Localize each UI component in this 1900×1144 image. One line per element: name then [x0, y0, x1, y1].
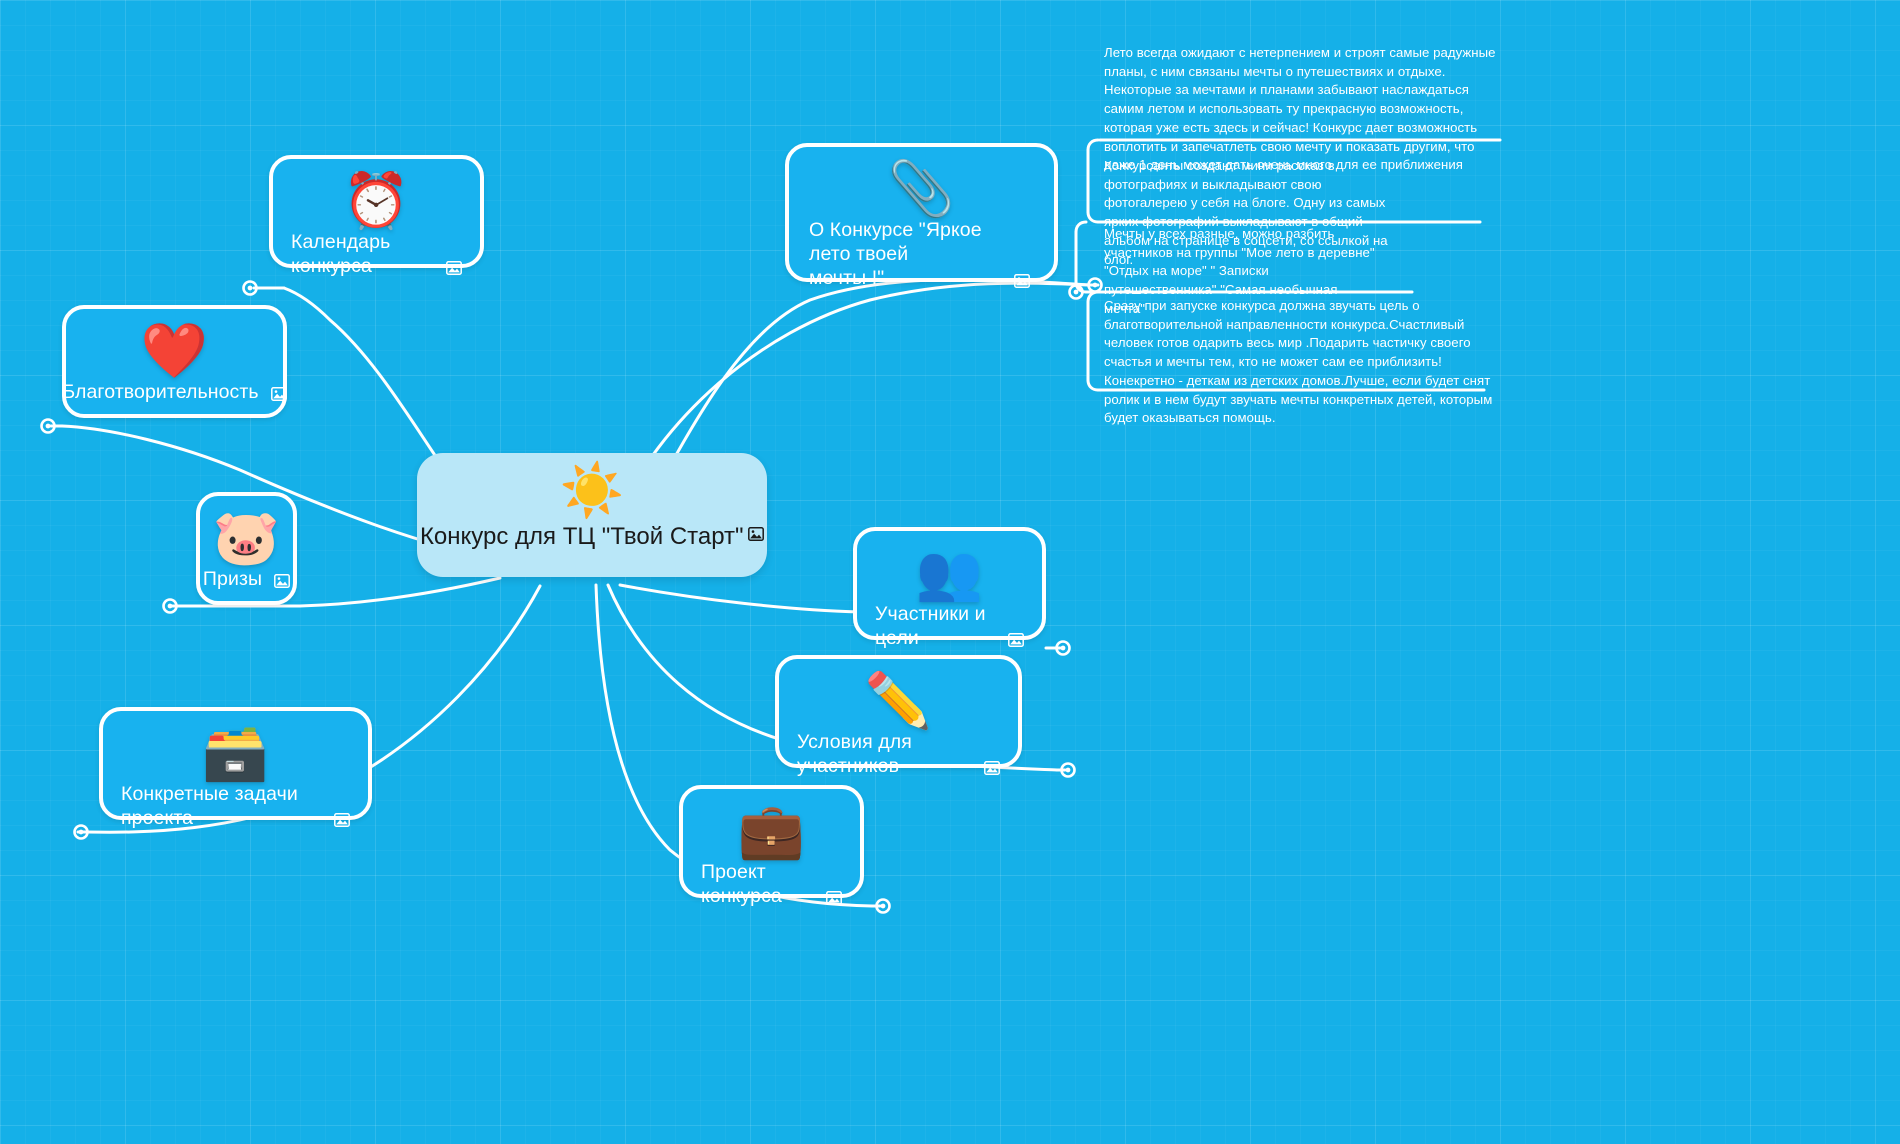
paperclip-note-emoji: 📎: [888, 161, 955, 218]
note-bracket-7: [1088, 380, 1098, 390]
node-label: Конкретные задачи проекта: [121, 782, 322, 831]
node-konkretnye-zadachi-proekta[interactable]: 🗃️ Конкретные задачи проекта: [99, 707, 372, 820]
node-label: Проект конкурса: [701, 860, 814, 909]
briefcase-emoji: 💼: [738, 803, 805, 860]
mindmap-canvas[interactable]: ☀️ Конкурс для ТЦ "Твой Старт" ⏰ Календа…: [0, 0, 1900, 1144]
node-caption: Конкретные задачи проекта: [121, 782, 350, 831]
node-usloviya-dlya-uchastnikov[interactable]: ✏️ Условия для участников: [775, 655, 1022, 768]
node-uchastniki-i-tseli[interactable]: 👥 Участники и цели: [853, 527, 1046, 640]
central-caption: Конкурс для ТЦ "Твой Старт": [420, 523, 764, 551]
image-attachment-badge[interactable]: [446, 261, 462, 275]
alarm-clock-emoji: ⏰: [343, 173, 410, 230]
image-attachment-badge[interactable]: [334, 813, 350, 827]
node-caption: Призы: [218, 567, 275, 591]
node-proekt-konkursa[interactable]: 💼 Проект конкурса: [679, 785, 864, 898]
node-caption: Условия для участников: [797, 730, 1000, 779]
image-attachment-badge[interactable]: [271, 387, 287, 401]
central-node-label: Конкурс для ТЦ "Твой Старт": [420, 523, 744, 550]
node-prizy[interactable]: 🐷 Призы: [196, 492, 297, 605]
node-caption: Участники и цели: [875, 602, 1024, 651]
note-about-contest: Лето всегда ожидают с нетерпением и стро…: [1104, 44, 1504, 175]
image-attachment-badge[interactable]: [984, 761, 1000, 775]
card-file-box-emoji: 🗃️: [202, 725, 269, 782]
node-label: Благотворительность: [62, 380, 258, 404]
node-label: О Конкурсе "Яркое лето твоей мечты !": [809, 218, 1002, 291]
central-node[interactable]: ☀️ Конкурс для ТЦ "Твой Старт": [417, 453, 767, 577]
node-caption: О Конкурсе "Яркое лето твоей мечты !": [807, 218, 1036, 291]
image-attachment-badge[interactable]: [274, 574, 290, 588]
node-label: Призы: [203, 567, 262, 591]
heart-emoji: ❤️: [141, 323, 208, 380]
image-attachment-badge[interactable]: [1014, 274, 1030, 288]
note-bracket-4: [1076, 222, 1086, 232]
piggy-bank-emoji: 🐷: [213, 510, 280, 567]
pencil-emoji: ✏️: [865, 673, 932, 730]
node-label: Условия для участников: [797, 730, 972, 779]
image-attachment-badge[interactable]: [748, 527, 764, 541]
sun-emoji: ☀️: [560, 465, 625, 517]
busts-in-silhouette-emoji: 👥: [916, 545, 983, 602]
image-attachment-badge[interactable]: [826, 891, 842, 905]
node-caption: Проект конкурса: [701, 860, 842, 909]
note-bracket-2: [1088, 140, 1098, 150]
node-calendar-konkursa[interactable]: ⏰ Календарь конкурса: [269, 155, 484, 268]
link-central-prizes: [300, 578, 500, 606]
node-caption: Благотворительность: [84, 380, 265, 404]
node-label: Участники и цели: [875, 602, 996, 651]
note-bracket-3: [1088, 212, 1098, 222]
node-blagotvoritelnost[interactable]: ❤️ Благотворительность: [62, 305, 287, 418]
link-central-people2: [620, 585, 860, 612]
note-charity-goal: Сразу при запуске конкурса должна звучат…: [1104, 297, 1496, 428]
node-o-konkurse[interactable]: 📎 О Конкурсе "Яркое лето твоей мечты !": [785, 143, 1058, 282]
node-label: Календарь конкурса: [291, 230, 434, 279]
image-attachment-badge[interactable]: [1008, 633, 1024, 647]
node-caption: Календарь конкурса: [291, 230, 462, 279]
